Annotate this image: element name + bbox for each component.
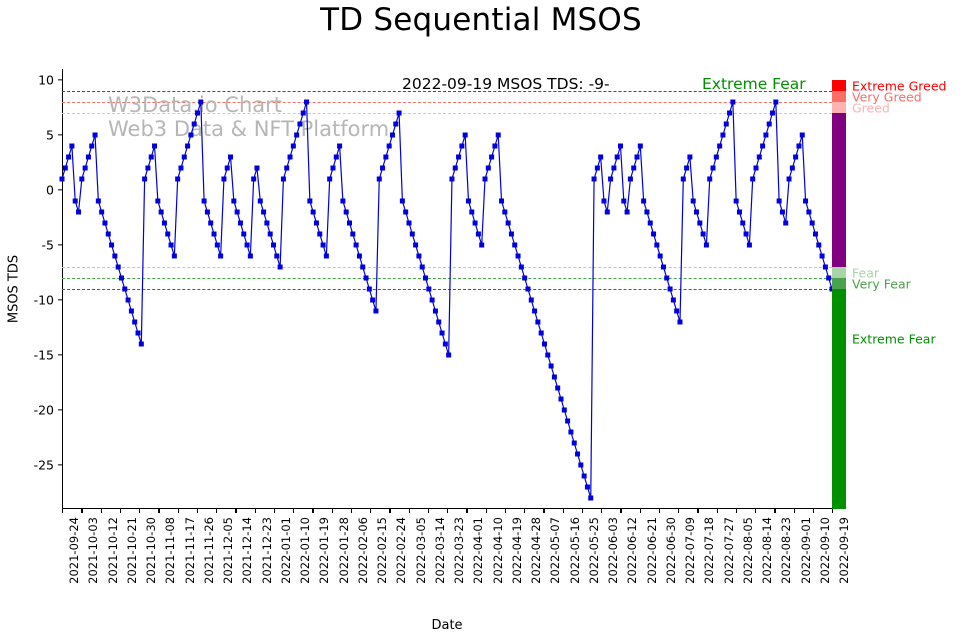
series-marker [608,177,613,182]
series-marker [440,331,445,336]
series-marker [658,254,663,259]
series-marker [228,155,233,160]
series-marker [60,177,65,182]
series-marker [717,144,722,149]
series-marker [99,210,104,215]
series-marker [562,408,567,413]
x-tick-label: 2021-12-23 [260,517,274,584]
colorbar-segment [832,102,846,113]
series-marker [393,122,398,127]
series-marker [618,144,623,149]
series-marker [621,199,626,204]
series-marker [598,155,603,160]
series-marker [102,221,107,226]
series-marker [169,243,174,248]
series-marker [773,100,778,105]
series-marker [420,265,425,270]
series-marker [453,166,458,171]
series-marker [516,254,521,259]
series-marker [238,221,243,226]
x-tick-mark [158,509,159,513]
series-marker [400,199,405,204]
series-marker [529,298,534,303]
x-tick-label: 2022-06-03 [606,517,620,584]
series-marker [512,243,517,248]
series-marker [635,155,640,160]
series-marker [387,144,392,149]
series-marker [268,232,273,237]
series-marker [79,177,84,182]
y-tick-label: 0 [46,183,62,198]
x-tick-label: 2022-03-05 [414,517,428,584]
y-tick-label: -15 [34,348,62,363]
x-axis-label: Date [431,618,462,633]
x-tick-mark [197,509,198,513]
series-marker [403,210,408,215]
x-tick-label: 2022-01-01 [279,517,293,584]
series-marker [509,232,514,237]
series-marker [466,199,471,204]
x-tick-mark [139,509,140,513]
x-tick-label: 2022-01-28 [337,517,351,584]
series-marker [506,221,511,226]
series-marker [486,166,491,171]
series-marker [443,342,448,347]
series-marker [76,210,81,215]
series-marker [459,144,464,149]
series-marker [63,166,68,171]
series-marker [66,155,71,160]
colorbar-segment [832,267,846,278]
series-marker [793,155,798,160]
series-marker [380,166,385,171]
series-marker [535,320,540,325]
x-tick-label: 2022-05-25 [587,517,601,584]
x-tick-label: 2022-03-14 [433,517,447,584]
series-marker [198,100,203,105]
series-marker [479,243,484,248]
series-marker [297,122,302,127]
series-marker [492,144,497,149]
series-marker [714,155,719,160]
series-marker [155,199,160,204]
colorbar-segment [832,113,846,267]
series-marker [522,276,527,281]
series-marker [595,166,600,171]
series-marker [575,452,580,457]
x-tick-label: 2021-09-24 [67,517,81,584]
series-marker [89,144,94,149]
series-marker [456,155,461,160]
series-marker [251,177,256,182]
x-tick-label: 2021-10-21 [125,517,139,584]
series-marker [364,276,369,281]
series-marker [803,199,808,204]
series-marker [611,166,616,171]
series-marker [278,265,283,270]
x-tick-label: 2022-07-18 [702,517,716,584]
series-marker [790,166,795,171]
series-marker [691,199,696,204]
series-marker [340,199,345,204]
series-marker [631,166,636,171]
x-tick-mark [543,509,544,513]
series-marker [684,166,689,171]
y-tick-label: 5 [46,128,62,143]
series-marker [416,254,421,259]
series-marker [142,177,147,182]
colorbar-segment [832,289,846,509]
x-tick-label: 2022-04-01 [471,517,485,584]
series-marker [218,254,223,259]
y-axis-label: MSOS TDS [7,255,22,323]
series-marker [545,353,550,358]
series-marker [311,210,316,215]
x-tick-mark [293,509,294,513]
x-tick-label: 2021-11-08 [163,517,177,584]
series-marker [816,243,821,248]
x-tick-mark [332,509,333,513]
series-marker [525,287,530,292]
series-marker [410,232,415,237]
x-tick-mark [178,509,179,513]
series-marker [777,199,782,204]
x-tick-label: 2021-12-14 [240,517,254,584]
series-marker [192,122,197,127]
series-line [62,102,832,498]
series-marker [810,221,815,226]
series-marker [694,210,699,215]
x-tick-label: 2022-02-06 [356,517,370,584]
series-marker [69,144,74,149]
series-marker [106,232,111,237]
colorbar-label: Greed [852,101,890,116]
series-marker [681,177,686,182]
x-tick-label: 2022-09-19 [837,517,851,584]
series-marker [483,177,488,182]
series-marker [770,111,775,116]
series-marker [96,199,101,204]
x-tick-mark [62,509,63,513]
x-tick-label: 2021-11-26 [202,517,216,584]
series-marker [370,298,375,303]
x-tick-mark [216,509,217,513]
series-marker [281,177,286,182]
chart-canvas: TD Sequential MSOS MSOS TDS 1050-5-10-15… [0,0,962,633]
series-marker [757,155,762,160]
series-marker [185,144,190,149]
series-marker [813,232,818,237]
x-tick-label: 2022-07-09 [683,517,697,584]
series-marker [304,100,309,105]
x-tick-label: 2021-12-05 [221,517,235,584]
x-tick-mark [582,509,583,513]
series-marker [406,221,411,226]
x-tick-mark [640,509,641,513]
series-marker [109,243,114,248]
x-tick-mark [563,509,564,513]
series-marker [806,210,811,215]
series-marker [823,265,828,270]
y-tick-label: -5 [42,238,62,253]
series-marker [644,210,649,215]
x-tick-mark [524,509,525,513]
x-tick-mark [255,509,256,513]
x-tick-label: 2022-01-10 [298,517,312,584]
series-marker [254,166,259,171]
series-marker [664,276,669,281]
series-marker [532,309,537,314]
series-marker [248,254,253,259]
x-tick-mark [736,509,737,513]
x-tick-label: 2022-05-07 [548,517,562,584]
series-marker [215,243,220,248]
series-marker [469,210,474,215]
series-marker [205,210,210,215]
series-marker [116,265,121,270]
series-marker [767,122,772,127]
series-marker [463,133,468,138]
series-marker [271,243,276,248]
series-marker [383,155,388,160]
series-marker [93,133,98,138]
series-marker [820,254,825,259]
series-marker [638,144,643,149]
series-marker [261,210,266,215]
x-tick-label: 2021-10-30 [144,517,158,584]
x-tick-label: 2022-08-23 [779,517,793,584]
series-marker [559,397,564,402]
x-tick-mark [794,509,795,513]
series-marker [648,221,653,226]
series-marker [744,232,749,237]
series-marker [330,166,335,171]
series-marker [601,199,606,204]
series-marker [377,177,382,182]
series-marker [344,210,349,215]
series-marker [668,287,673,292]
series-marker [397,111,402,116]
series-marker [572,441,577,446]
series-marker [750,177,755,182]
series-marker [288,155,293,160]
series-marker [208,221,213,226]
series-marker [588,496,593,501]
series-marker [390,133,395,138]
series-marker [373,309,378,314]
series-marker [83,166,88,171]
series-marker [654,243,659,248]
series-marker [291,144,296,149]
x-tick-label: 2022-02-15 [375,517,389,584]
series-marker [800,133,805,138]
series-marker [499,199,504,204]
series-marker [426,287,431,292]
x-tick-label: 2022-04-19 [510,517,524,584]
series-marker [284,166,289,171]
series-marker [307,199,312,204]
series-marker [258,199,263,204]
series-marker [737,210,742,215]
series-marker [132,320,137,325]
series-marker [165,232,170,237]
x-tick-mark [428,509,429,513]
series-marker [787,177,792,182]
series-marker [231,199,236,204]
series-marker [182,155,187,160]
series-marker [565,419,570,424]
x-tick-label: 2021-10-12 [106,517,120,584]
x-tick-label: 2022-04-10 [491,517,505,584]
series-marker [473,221,478,226]
series-marker [436,320,441,325]
y-tick-label: -10 [34,293,62,308]
x-tick-label: 2022-08-05 [741,517,755,584]
series-marker [555,386,560,391]
series-marker [350,232,355,237]
x-tick-mark [120,509,121,513]
series-marker [112,254,117,259]
series-marker [697,221,702,226]
series-marker [327,177,332,182]
series-marker [502,210,507,215]
series-marker [628,177,633,182]
series-marker [360,265,365,270]
y-tick-label: -20 [34,403,62,418]
series-marker [687,155,692,160]
x-tick-mark [620,509,621,513]
x-tick-label: 2022-07-27 [722,517,736,584]
x-tick-label: 2022-01-19 [317,517,331,584]
series-marker [592,177,597,182]
series-marker [661,265,666,270]
colorbar-label: Extreme Fear [852,332,936,347]
series-marker [615,155,620,160]
series-marker [605,210,610,215]
series-marker [334,155,339,160]
series-marker [202,199,207,204]
series-marker [578,463,583,468]
series-marker [162,221,167,226]
series-marker [720,133,725,138]
plot-area: MSOS TDS 1050-5-10-15-20-25 W3Data.io Ch… [62,69,832,509]
x-tick-mark [755,509,756,513]
series-marker [734,199,739,204]
series-marker [324,254,329,259]
series-marker [711,166,716,171]
series-marker [175,177,180,182]
x-tick-mark [659,509,660,513]
series-marker [225,166,230,171]
series-marker [724,122,729,127]
series-marker [489,155,494,160]
x-tick-mark [409,509,410,513]
series-marker [221,177,226,182]
x-tick-mark [81,509,82,513]
series-marker [449,177,454,182]
msos-tds-series [62,69,832,509]
series-marker [122,287,127,292]
series-marker [519,265,524,270]
series-marker [568,430,573,435]
series-marker [760,144,765,149]
x-tick-label: 2022-02-24 [394,517,408,584]
series-marker [641,199,646,204]
series-marker [337,144,342,149]
series-marker [476,232,481,237]
series-marker [542,342,547,347]
series-marker [730,100,735,105]
series-marker [314,221,319,226]
series-marker [413,243,418,248]
colorbar-segment [832,278,846,289]
series-marker [119,276,124,281]
series-marker [126,298,131,303]
series-marker [747,243,752,248]
series-marker [783,221,788,226]
series-marker [139,342,144,347]
x-tick-label: 2021-11-17 [183,517,197,584]
series-marker [86,155,91,160]
series-marker [433,309,438,314]
series-marker [625,210,630,215]
y-tick-label: -25 [34,458,62,473]
x-tick-mark [832,509,833,513]
colorbar-segment [832,80,846,91]
series-marker [347,221,352,226]
series-marker [674,309,679,314]
x-tick-mark [274,509,275,513]
series-marker [430,298,435,303]
series-marker [159,210,164,215]
series-marker [727,111,732,116]
series-marker [235,210,240,215]
x-tick-mark [697,509,698,513]
x-tick-label: 2022-06-30 [664,517,678,584]
x-tick-mark [351,509,352,513]
x-tick-mark [486,509,487,513]
series-marker [496,133,501,138]
series-marker [73,199,78,204]
series-marker [677,320,682,325]
x-tick-label: 2022-09-01 [799,517,813,584]
series-marker [582,474,587,479]
series-marker [763,133,768,138]
x-tick-mark [717,509,718,513]
x-tick-label: 2021-10-03 [86,517,100,584]
series-marker [701,232,706,237]
series-marker [178,166,183,171]
x-tick-label: 2022-03-23 [452,517,466,584]
x-tick-mark [774,509,775,513]
series-marker [354,243,359,248]
series-marker [651,232,656,237]
series-marker [212,232,217,237]
x-tick-mark [678,509,679,513]
series-marker [671,298,676,303]
x-tick-label: 2022-09-10 [818,517,832,584]
series-marker [549,364,554,369]
series-marker [317,232,322,237]
colorbar-label: Very Fear [852,277,911,292]
x-tick-mark [601,509,602,513]
series-marker [826,276,831,281]
y-tick-label: 10 [38,73,62,88]
x-tick-mark [235,509,236,513]
x-tick-label: 2022-08-14 [760,517,774,584]
series-marker [294,133,299,138]
x-tick-mark [370,509,371,513]
